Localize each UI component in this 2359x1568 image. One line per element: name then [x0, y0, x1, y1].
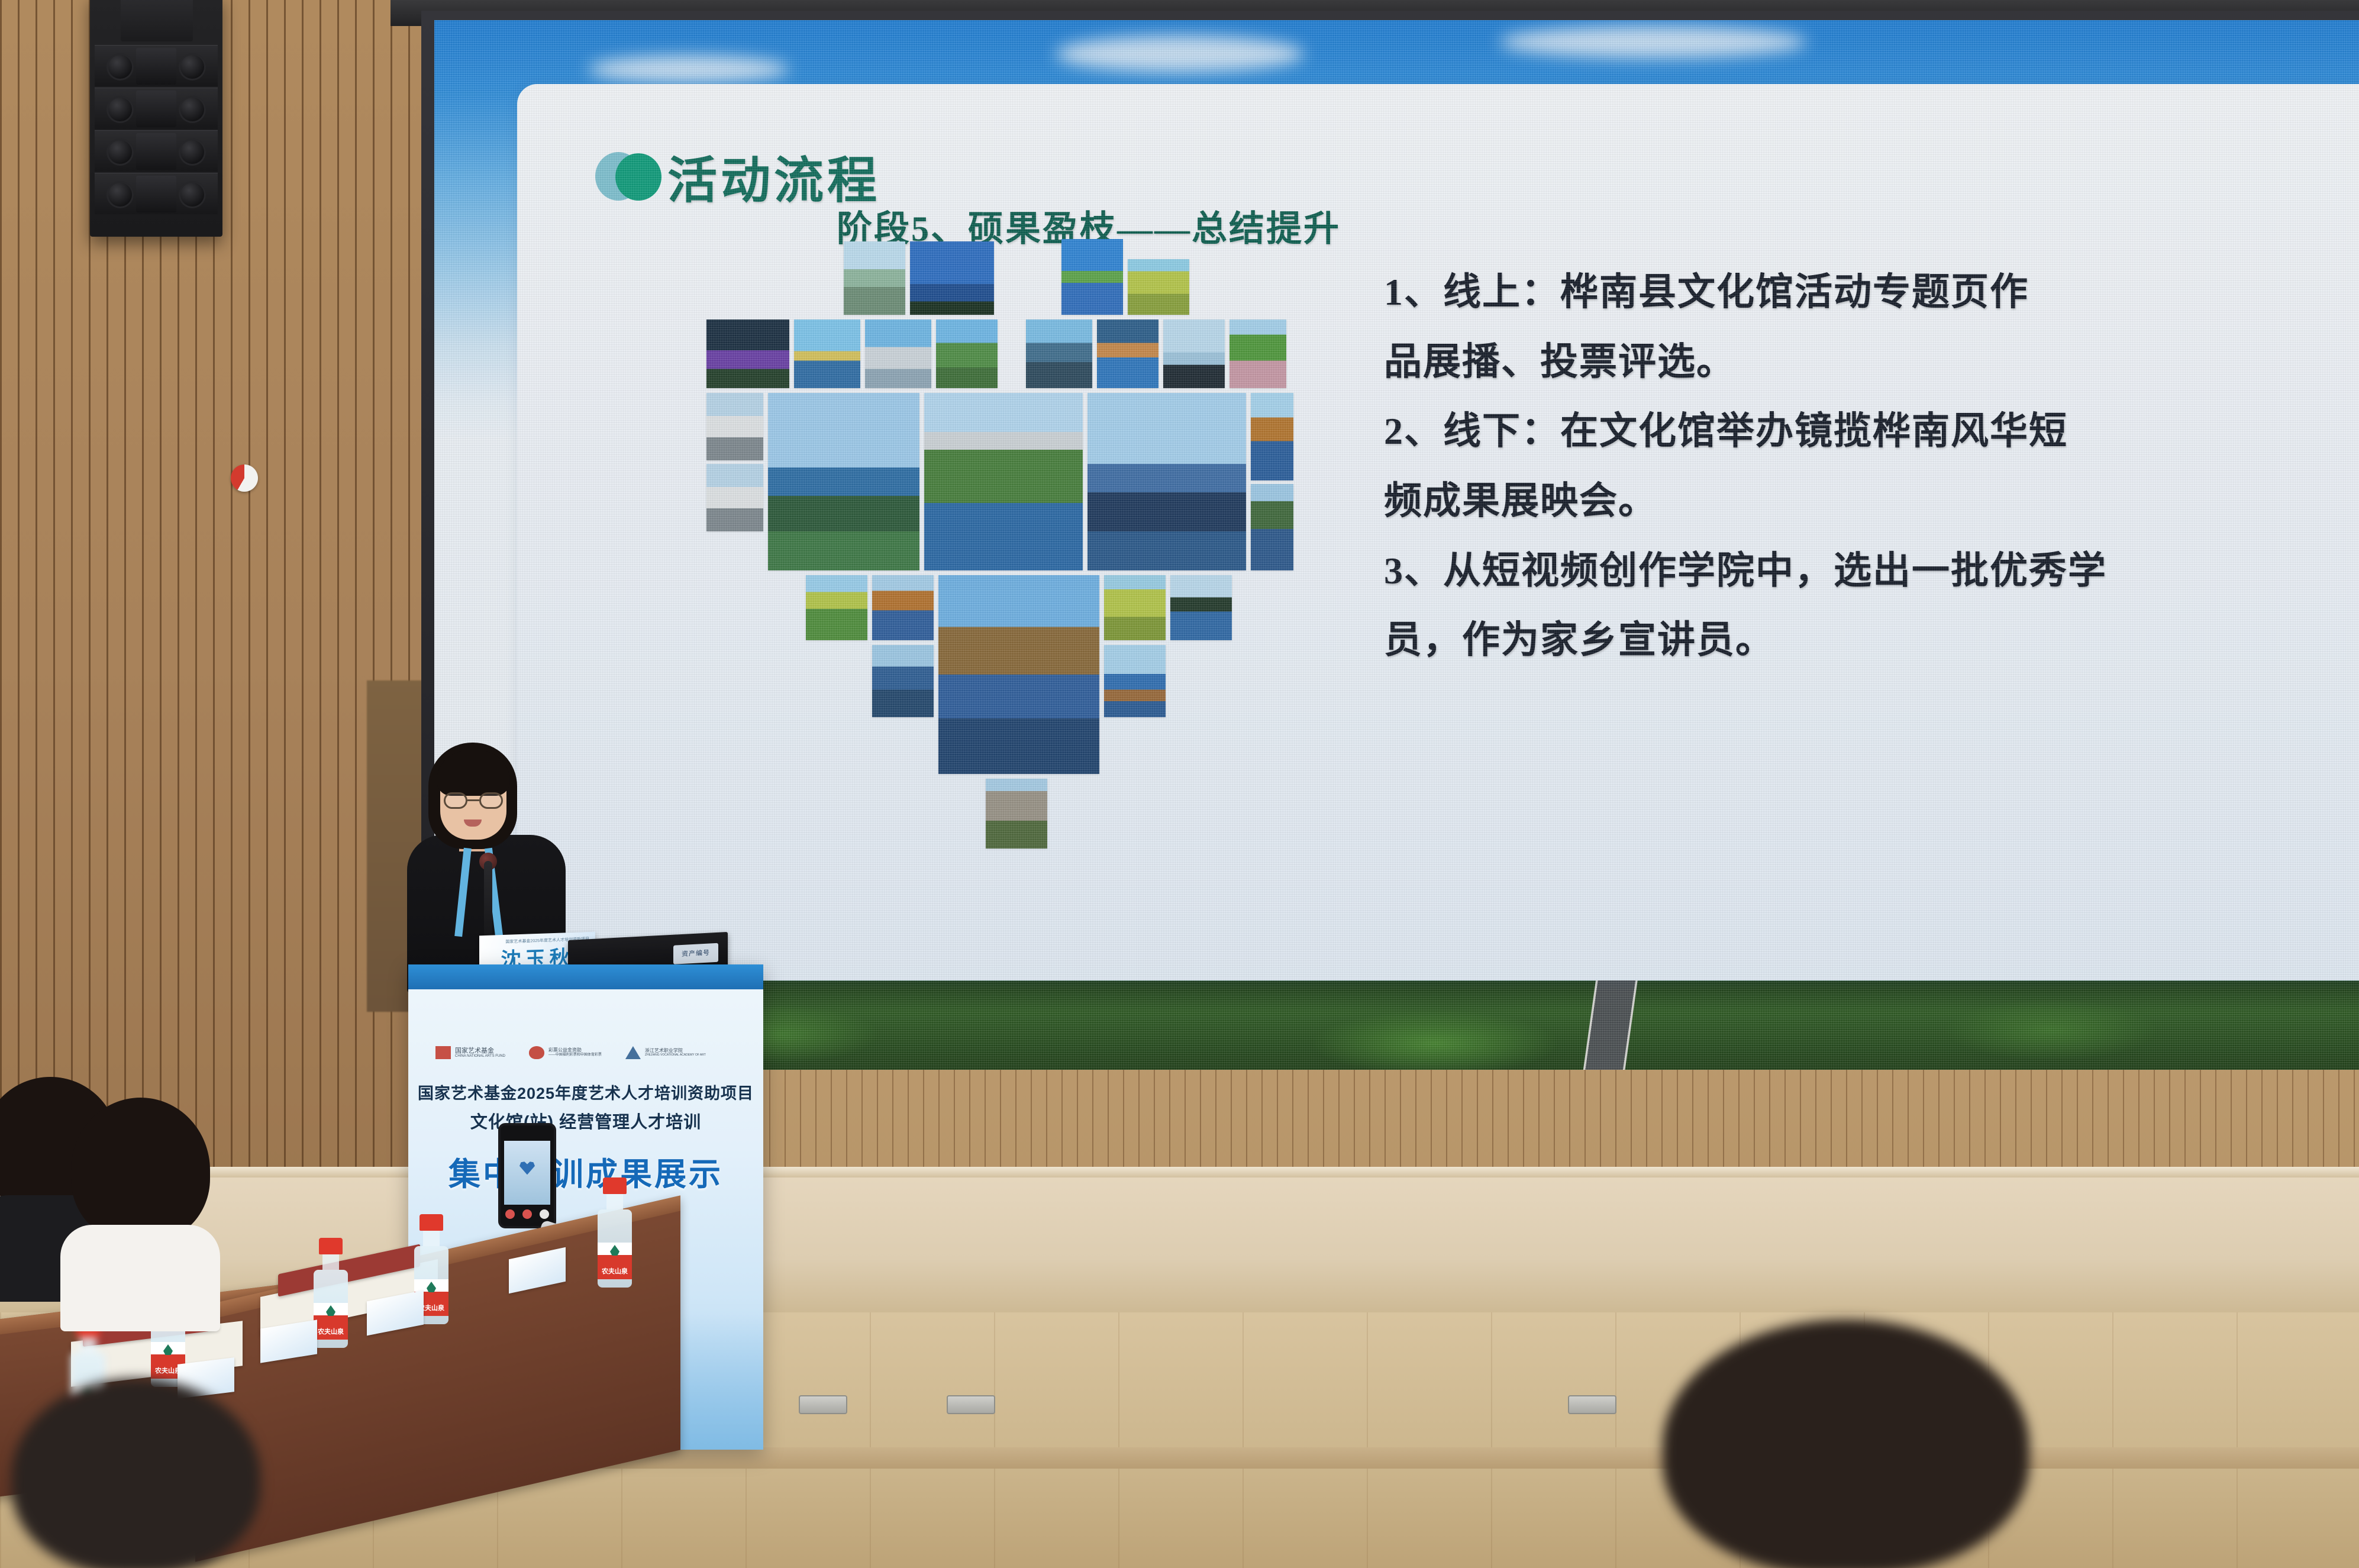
sponsor-logo-row: 国家艺术基金CHINA NATIONAL ARTS FUND 彩票公益金资助——…: [435, 1039, 737, 1066]
presenter-hair-front: [437, 751, 510, 796]
heart-icon: [519, 1160, 535, 1175]
water-drop-icon: [326, 1305, 335, 1316]
led-screen: 活动流程 阶段5、硕果盈枝——总结提升: [434, 20, 2359, 1070]
audience-member-foreground: [12, 1379, 266, 1568]
bottle-brand: 农夫山泉: [598, 1266, 632, 1276]
speaker-cone-icon: [179, 181, 206, 208]
collage-photo: [794, 320, 860, 388]
phone-viewfinder: [504, 1141, 550, 1205]
audience-hair: [71, 1098, 210, 1243]
speaker-horn-icon: [136, 133, 176, 170]
speaker-cone-icon: [107, 53, 134, 80]
body-line: 1、线上：桦南县文化馆活动专题页作: [1384, 262, 2035, 323]
collage-photo: [1163, 320, 1225, 388]
academy-of-art-icon: [625, 1046, 641, 1059]
speaker-cell: [95, 130, 218, 172]
two-tone-circle-icon: [595, 150, 650, 204]
sponsor-logo: 彩票公益金资助——中国福利彩票和中国体育彩票: [529, 1046, 602, 1059]
speaker-cone-icon: [107, 181, 134, 208]
bottle-label: 农夫山泉: [598, 1243, 632, 1279]
water-drop-icon: [610, 1245, 619, 1256]
bottle-cap: [319, 1238, 343, 1254]
collage-photo: [1170, 575, 1232, 640]
collage-photo: [986, 779, 1047, 848]
phone-camera-controls[interactable]: [505, 1209, 549, 1219]
speaker-cone-icon: [179, 138, 206, 166]
collage-photo: [706, 320, 789, 388]
podium-title-line-3: 集中培训成果展示: [408, 1148, 763, 1195]
welfare-lottery-icon: [529, 1046, 544, 1059]
speaker-horn-top: [121, 0, 193, 41]
collage-photo: [1104, 645, 1166, 717]
collage-photo: [865, 320, 931, 388]
slide-body-text: 1、线上：桦南县文化馆活动专题页作 品展播、投票评选。 2、线下：在文化馆举办镜…: [1384, 262, 2035, 679]
collage-photo: [1251, 484, 1293, 570]
collage-photo: [872, 575, 934, 640]
podium-title-line-1: 国家艺术基金2025年度艺术人才培训资助项目: [408, 1080, 763, 1104]
led-screen-bezel: 活动流程 阶段5、硕果盈枝——总结提升: [421, 11, 2359, 1070]
speaker-cone-icon: [107, 138, 134, 166]
body-line: 2、线下：在文化馆举办镜揽桦南风华短: [1384, 401, 2035, 462]
body-line: 频成果展映会。: [1384, 470, 2035, 532]
speaker-cell: [95, 173, 218, 214]
speaker-horn-icon: [136, 48, 176, 85]
floor-socket: [1568, 1395, 1616, 1414]
bottle-label: 农夫山泉: [314, 1303, 348, 1340]
collage-photo: [844, 241, 905, 315]
speaker-cell: [95, 45, 218, 86]
floor-socket: [947, 1395, 995, 1414]
collage-photo: [936, 320, 998, 388]
laptop-asset-sticker: 资产编号: [673, 943, 718, 964]
collage-photo: [706, 464, 763, 531]
water-drop-icon: [427, 1282, 436, 1292]
speaker-cone-icon: [179, 53, 206, 80]
cloud-shape: [1056, 36, 1304, 72]
heart-photo-collage: [706, 238, 1345, 853]
cloud-shape: [588, 56, 789, 83]
audience-member: [71, 1098, 219, 1311]
lecture-hall-scene: 活动流程 阶段5、硕果盈枝——总结提升: [0, 0, 2359, 1568]
audience-hair: [12, 1379, 260, 1568]
glasses-icon: [444, 792, 503, 809]
collage-photo: [910, 241, 994, 315]
audience-hair: [1663, 1319, 2029, 1568]
bottle-cap: [419, 1214, 443, 1231]
audience-member-foreground: [1663, 1319, 2029, 1568]
bottle-brand: 农夫山泉: [314, 1327, 348, 1336]
bottle-body: 农夫山泉: [314, 1270, 348, 1348]
floor-socket: [799, 1395, 847, 1414]
collage-photo: [924, 393, 1083, 570]
body-line: 品展播、投票评选。: [1384, 331, 2035, 393]
collage-photo: [872, 645, 934, 717]
sponsor-logo: 国家艺术基金CHINA NATIONAL ARTS FUND: [435, 1046, 505, 1059]
audience-torso: [60, 1225, 220, 1331]
collage-photo: [1128, 259, 1189, 315]
collage-photo: [1229, 320, 1286, 388]
bottle-body: 农夫山泉: [598, 1209, 632, 1288]
collage-photo: [1251, 393, 1293, 480]
collage-photo: [1061, 239, 1123, 315]
speaker-cell: [95, 88, 218, 129]
stage-edge: [0, 1167, 2359, 1179]
water-drop-icon: [163, 1344, 173, 1355]
collage-photo: [768, 393, 919, 570]
body-line: 3、从短视频创作学院中，选出一批优秀学: [1384, 540, 2035, 602]
collage-photo: [938, 575, 1099, 774]
water-bottle[interactable]: 农夫山泉: [598, 1177, 632, 1288]
collage-photo: [706, 393, 763, 460]
sponsor-logo: 浙江艺术职业学院ZHEJIANG VOCATIONAL ACADEMY OF A…: [625, 1046, 706, 1059]
speaker-cone-icon: [107, 96, 134, 123]
national-arts-fund-icon: [435, 1046, 451, 1059]
body-line: 员，作为家乡宣讲员。: [1384, 609, 2035, 671]
collage-photo: [1087, 393, 1246, 570]
line-array-speaker: [90, 0, 222, 237]
cloud-shape: [1499, 26, 1807, 58]
circle-front-icon: [615, 153, 661, 201]
speaker-horn-icon: [136, 176, 176, 212]
speaker-horn-icon: [136, 91, 176, 127]
speaker-cone-icon: [179, 96, 206, 123]
wall-indicator-icon: [231, 464, 258, 492]
collage-photo: [1026, 320, 1092, 388]
collage-photo: [806, 575, 867, 640]
bottle-cap: [603, 1177, 627, 1194]
podium-title-line-2: 文化馆(站) 经营管理人才培训: [408, 1108, 763, 1133]
collage-photo: [1097, 320, 1158, 388]
collage-photo: [1104, 575, 1166, 640]
podium-top-band: [408, 964, 763, 989]
slide-content-card: 活动流程 阶段5、硕果盈枝——总结提升: [517, 84, 2359, 980]
water-bottle[interactable]: 农夫山泉: [314, 1238, 348, 1348]
smartphone-on-gimbal[interactable]: [498, 1123, 556, 1228]
